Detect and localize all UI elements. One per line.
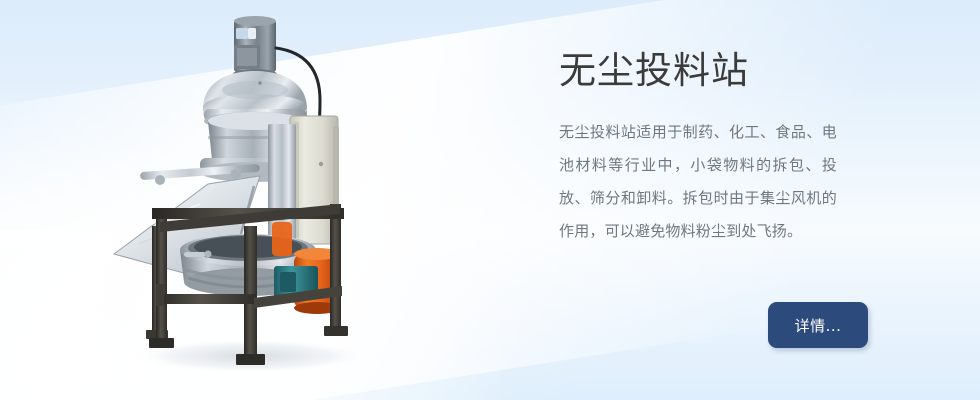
hero-banner: 无尘投料站 无尘投料站适用于制药、化工、食品、电池材料等行业中，小袋物料的拆包、… bbox=[0, 0, 980, 400]
page-title: 无尘投料站 bbox=[559, 48, 919, 94]
banner-text-column: 无尘投料站 无尘投料站适用于制药、化工、食品、电池材料等行业中，小袋物料的拆包、… bbox=[559, 48, 919, 248]
product-image-dustfree-feeding-station bbox=[108, 8, 378, 380]
product-description: 无尘投料站适用于制药、化工、食品、电池材料等行业中，小袋物料的拆包、投放、筛分和… bbox=[559, 94, 837, 248]
machine-top-motor bbox=[233, 16, 277, 79]
details-button[interactable]: 详情... bbox=[768, 302, 868, 348]
